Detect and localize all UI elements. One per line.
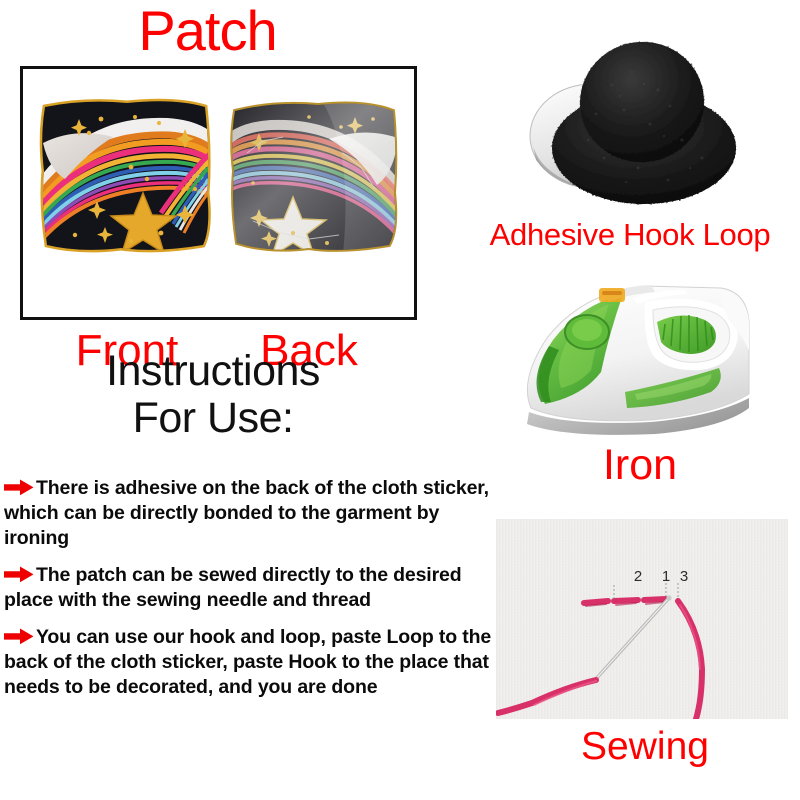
iron-label: Iron <box>540 442 740 488</box>
list-item-text: You can use our hook and loop, paste Loo… <box>4 626 491 698</box>
list-item: There is adhesive on the back of the clo… <box>4 476 496 551</box>
list-item-text: The patch can be sewed directly to the d… <box>4 564 461 611</box>
iron-image <box>505 276 795 446</box>
hook-loop-image <box>492 40 792 220</box>
red-arrow-icon <box>4 479 34 496</box>
red-arrow-icon <box>4 628 34 645</box>
list-item: You can use our hook and loop, paste Loo… <box>4 625 496 700</box>
hook-loop-icon <box>492 40 792 220</box>
instructions-heading-line2: For Use: <box>18 395 408 442</box>
instructions-heading-line1: Instructions <box>106 347 320 395</box>
sewing-annotation-1: 1 <box>662 568 670 585</box>
red-arrow-icon <box>4 566 34 583</box>
sewing-icon: 2 1 3 <box>496 519 788 719</box>
list-item-text: There is adhesive on the back of the clo… <box>4 477 489 549</box>
patch-comparison-box: Front Back <box>20 66 417 320</box>
patch-back-icon <box>223 93 403 258</box>
poster-canvas: Patch <box>0 0 800 800</box>
list-item: The patch can be sewed directly to the d… <box>4 563 496 613</box>
page-title: Patch <box>0 2 415 60</box>
sewing-image: 2 1 3 <box>496 519 788 719</box>
instructions-heading: Instructions For Use: <box>18 348 408 442</box>
patch-front-icon <box>35 93 215 258</box>
instructions-list: There is adhesive on the back of the clo… <box>4 476 496 712</box>
iron-icon <box>505 276 795 446</box>
patch-back-image <box>223 93 403 258</box>
sewing-annotation-2: 2 <box>634 568 642 585</box>
sewing-label: Sewing <box>520 726 770 768</box>
patch-front-image <box>35 93 215 258</box>
hook-loop-label: Adhesive Hook Loop <box>460 218 800 252</box>
sewing-annotation-3: 3 <box>680 568 688 585</box>
